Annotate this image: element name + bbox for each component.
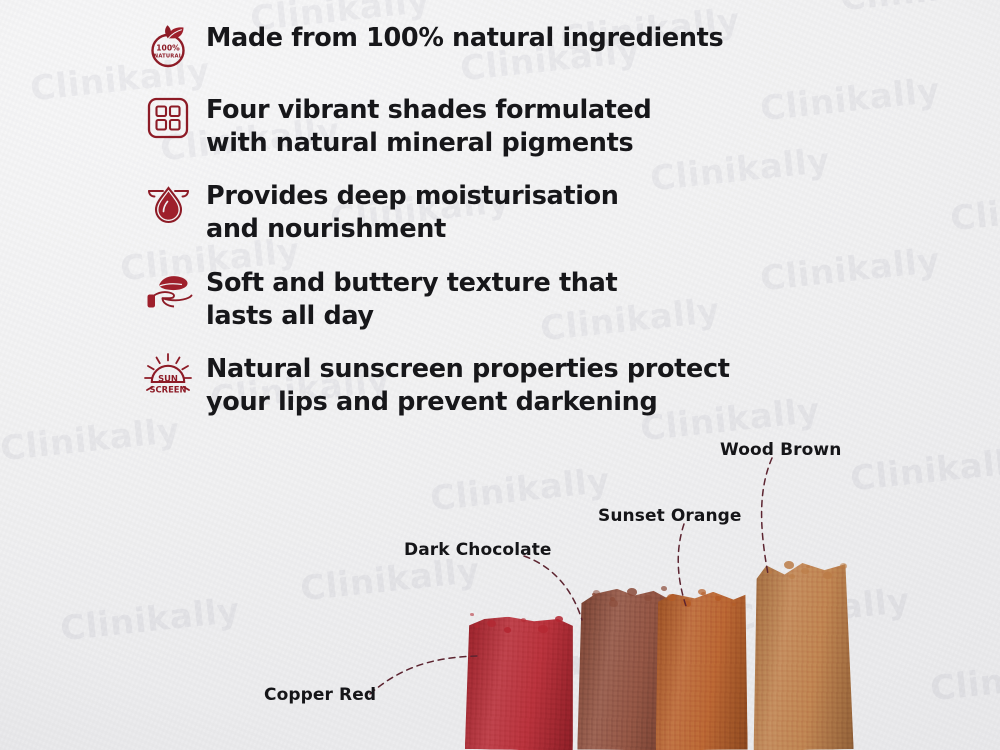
swatch-texture xyxy=(654,592,747,750)
swatch-crumb xyxy=(592,593,596,596)
swatch-crumb xyxy=(784,561,794,569)
swatch-texture xyxy=(750,562,853,750)
lipstick-swatch-wood-brown xyxy=(750,562,853,750)
swatch-crumb xyxy=(487,620,496,627)
shade-label-dark-chocolate: Dark Chocolate xyxy=(404,540,552,560)
swatch-texture xyxy=(465,616,575,750)
swatch-crumb xyxy=(474,623,480,628)
swatch-crumb xyxy=(538,625,548,633)
swatch-crumb xyxy=(684,601,691,607)
swatch-crumb xyxy=(701,592,706,596)
shade-label-wood-brown: Wood Brown xyxy=(720,440,841,460)
swatch-crumb xyxy=(715,596,721,601)
shade-label-sunset-orange: Sunset Orange xyxy=(598,506,742,526)
lipstick-swatch-sunset-orange xyxy=(654,592,747,750)
swatch-crumb xyxy=(767,570,772,574)
swatch-crumb xyxy=(789,574,795,579)
swatch-crumb xyxy=(661,586,667,591)
swatch-crumb xyxy=(627,588,637,596)
swatch-crumb xyxy=(521,618,526,622)
swatch-crumb xyxy=(504,627,511,633)
lipstick-swatch-photo xyxy=(0,0,1000,750)
lipstick-swatch-copper-red xyxy=(465,616,575,750)
promo-graphic: ClinikallyClinikallyClinikallyClinikally… xyxy=(0,0,1000,750)
swatch-crumb xyxy=(823,572,832,579)
swatch-crumb xyxy=(667,594,676,601)
swatch-crumb xyxy=(609,600,618,607)
swatch-crumb xyxy=(732,603,736,606)
shade-label-copper-red: Copper Red xyxy=(264,685,376,705)
swatch-crumb xyxy=(840,563,847,569)
swatch-crumb xyxy=(470,613,474,616)
